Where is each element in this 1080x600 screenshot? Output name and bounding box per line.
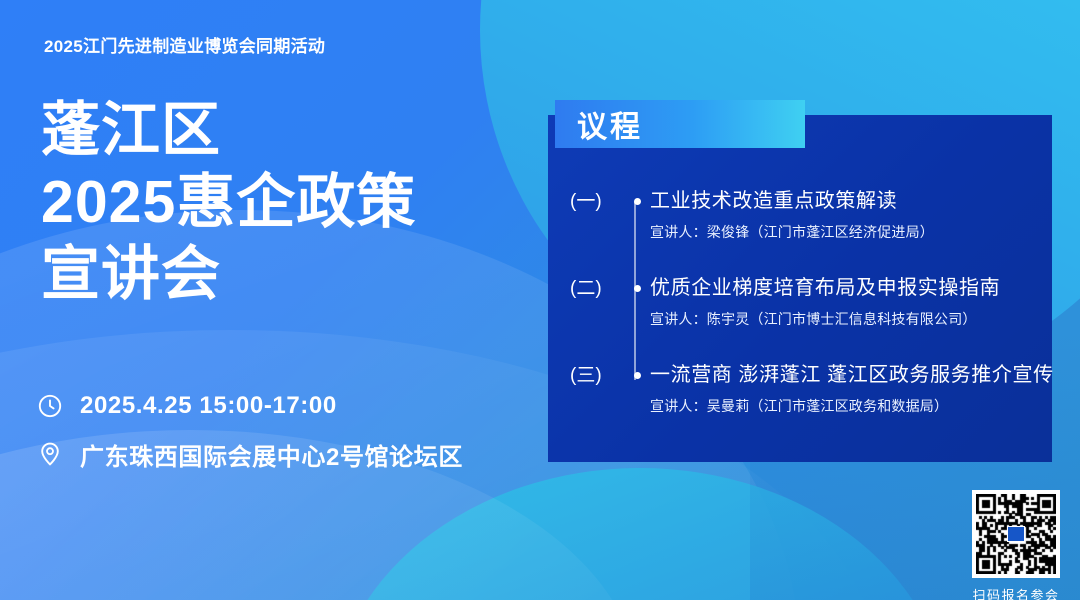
agenda-item-body: 工业技术改造重点政策解读 宣讲人：梁俊锋（江门市蓬江区经济促进局） (650, 188, 1040, 241)
agenda-item-index: (三) (570, 362, 628, 389)
event-datetime: 2025.4.25 15:00-17:00 (80, 392, 337, 420)
clock-icon (36, 392, 64, 420)
agenda-item-body: 一流营商 澎湃蓬江 蓬江区政务服务推介宣传 宣讲人：吴曼莉（江门市蓬江区政务和数… (650, 362, 1054, 415)
meta-row-datetime: 2025.4.25 15:00-17:00 (36, 382, 516, 430)
agenda-item: (二) 优质企业梯度培育布局及申报实操指南 宣讲人：陈宇灵（江门市博士汇信息科技… (570, 275, 1040, 328)
event-location: 广东珠西国际会展中心2号馆论坛区 (80, 437, 463, 472)
agenda-item-speaker: 宣讲人：梁俊锋（江门市蓬江区经济促进局） (650, 223, 1040, 241)
qr-registration-block[interactable]: 扫码报名参会 (968, 490, 1064, 600)
agenda-item-index: (一) (570, 188, 628, 215)
meta-row-location: 广东珠西国际会展中心2号馆论坛区 (36, 430, 516, 478)
agenda-timeline-marker (628, 188, 650, 214)
title-line-2: 2025惠企政策 (41, 166, 511, 238)
agenda-badge-label: 议程 (577, 102, 643, 146)
event-eyebrow: 2025江门先进制造业博览会同期活动 (44, 32, 325, 57)
qr-caption: 扫码报名参会 (968, 585, 1064, 600)
page-title: 蓬江区 2025惠企政策 宣讲会 (41, 94, 511, 310)
agenda-badge: 议程 (555, 100, 805, 148)
agenda-item-index: (二) (570, 275, 628, 302)
agenda-item-speaker: 宣讲人：陈宇灵（江门市博士汇信息科技有限公司） (650, 310, 1040, 328)
timeline-dot-icon (634, 372, 641, 379)
agenda-item-title: 一流营商 澎湃蓬江 蓬江区政务服务推介宣传 (650, 362, 1054, 388)
location-pin-icon (36, 440, 64, 468)
agenda-item: (三) 一流营商 澎湃蓬江 蓬江区政务服务推介宣传 宣讲人：吴曼莉（江门市蓬江区… (570, 362, 1040, 415)
agenda-item-speaker: 宣讲人：吴曼莉（江门市蓬江区政务和数据局） (650, 397, 1054, 415)
timeline-dot-icon (634, 198, 641, 205)
title-line-3: 宣讲会 (41, 238, 511, 310)
qr-center-logo-icon (1007, 526, 1025, 542)
agenda-item-title: 工业技术改造重点政策解读 (650, 188, 1040, 214)
agenda-item-body: 优质企业梯度培育布局及申报实操指南 宣讲人：陈宇灵（江门市博士汇信息科技有限公司… (650, 275, 1040, 328)
poster-canvas: 2025江门先进制造业博览会同期活动 蓬江区 2025惠企政策 宣讲会 2025… (0, 0, 1080, 600)
qr-code-icon[interactable] (972, 490, 1060, 578)
agenda-item-title: 优质企业梯度培育布局及申报实操指南 (650, 275, 1040, 301)
title-line-1: 蓬江区 (41, 94, 511, 166)
agenda-item: (一) 工业技术改造重点政策解读 宣讲人：梁俊锋（江门市蓬江区经济促进局） (570, 188, 1040, 241)
timeline-dot-icon (634, 285, 641, 292)
event-meta: 2025.4.25 15:00-17:00 广东珠西国际会展中心2号馆论坛区 (36, 382, 516, 478)
agenda-timeline-marker (628, 275, 650, 301)
agenda-timeline-marker (628, 362, 650, 388)
agenda-list: (一) 工业技术改造重点政策解读 宣讲人：梁俊锋（江门市蓬江区经济促进局） (二… (570, 188, 1040, 415)
